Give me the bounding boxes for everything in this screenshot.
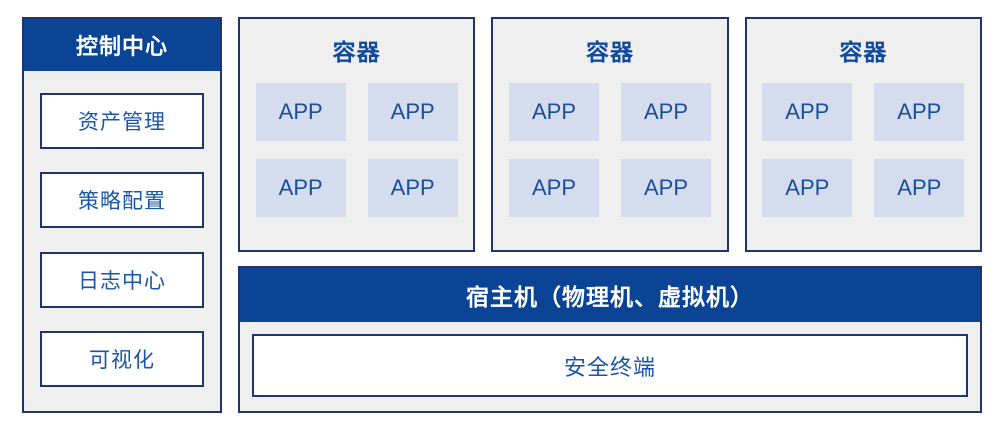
app-tile-label: APP [897,99,941,125]
app-tile[interactable]: APP [621,159,711,217]
container-title: 容器 [839,33,887,67]
container-box-3: 容器 APP APP APP APP [745,17,982,252]
app-tile[interactable]: APP [762,159,852,217]
sidebar-item-policy-config[interactable]: 策略配置 [40,172,204,228]
app-tile[interactable]: APP [256,159,346,217]
app-grid: APP APP APP APP [509,83,711,217]
control-center-panel: 控制中心 资产管理 策略配置 日志中心 可视化 [22,17,222,413]
container-box-2: 容器 APP APP APP APP [491,17,728,252]
containers-row: 容器 APP APP APP APP 容器 [238,17,982,252]
sidebar-item-label: 资产管理 [78,106,166,136]
container-box-1: 容器 APP APP APP APP [238,17,475,252]
app-tile[interactable]: APP [874,159,964,217]
app-tile-label: APP [785,99,829,125]
app-tile[interactable]: APP [256,83,346,141]
app-tile-label: APP [391,175,435,201]
app-tile-label: APP [391,99,435,125]
app-tile[interactable]: APP [368,83,458,141]
sidebar-item-log-center[interactable]: 日志中心 [40,252,204,308]
app-tile-label: APP [644,175,688,201]
app-tile[interactable]: APP [874,83,964,141]
right-area: 容器 APP APP APP APP 容器 [238,17,982,413]
app-grid: APP APP APP APP [256,83,458,217]
sidebar-item-visualization[interactable]: 可视化 [40,331,204,387]
app-tile[interactable]: APP [368,159,458,217]
app-tile[interactable]: APP [509,83,599,141]
app-tile-label: APP [532,175,576,201]
app-tile[interactable]: APP [621,83,711,141]
host-panel-title: 宿主机（物理机、虚拟机） [240,268,980,322]
sidebar-item-label: 可视化 [89,344,155,374]
container-title: 容器 [333,33,381,67]
app-tile-label: APP [785,175,829,201]
app-tile[interactable]: APP [509,159,599,217]
host-panel: 宿主机（物理机、虚拟机） 安全终端 [238,266,982,413]
sidebar-item-label: 日志中心 [78,265,166,295]
container-title: 容器 [586,33,634,67]
app-tile-label: APP [279,99,323,125]
security-endpoint-box[interactable]: 安全终端 [252,334,968,397]
app-tile[interactable]: APP [762,83,852,141]
sidebar-item-asset-management[interactable]: 资产管理 [40,93,204,149]
app-grid: APP APP APP APP [762,83,964,217]
sidebar-item-label: 策略配置 [78,185,166,215]
control-center-item-list: 资产管理 策略配置 日志中心 可视化 [24,71,220,411]
security-endpoint-label: 安全终端 [564,350,656,382]
control-center-title: 控制中心 [24,19,220,71]
architecture-diagram: 控制中心 资产管理 策略配置 日志中心 可视化 容器 APP [0,0,1001,437]
app-tile-label: APP [644,99,688,125]
app-tile-label: APP [532,99,576,125]
app-tile-label: APP [279,175,323,201]
host-panel-body: 安全终端 [240,322,980,411]
app-tile-label: APP [897,175,941,201]
